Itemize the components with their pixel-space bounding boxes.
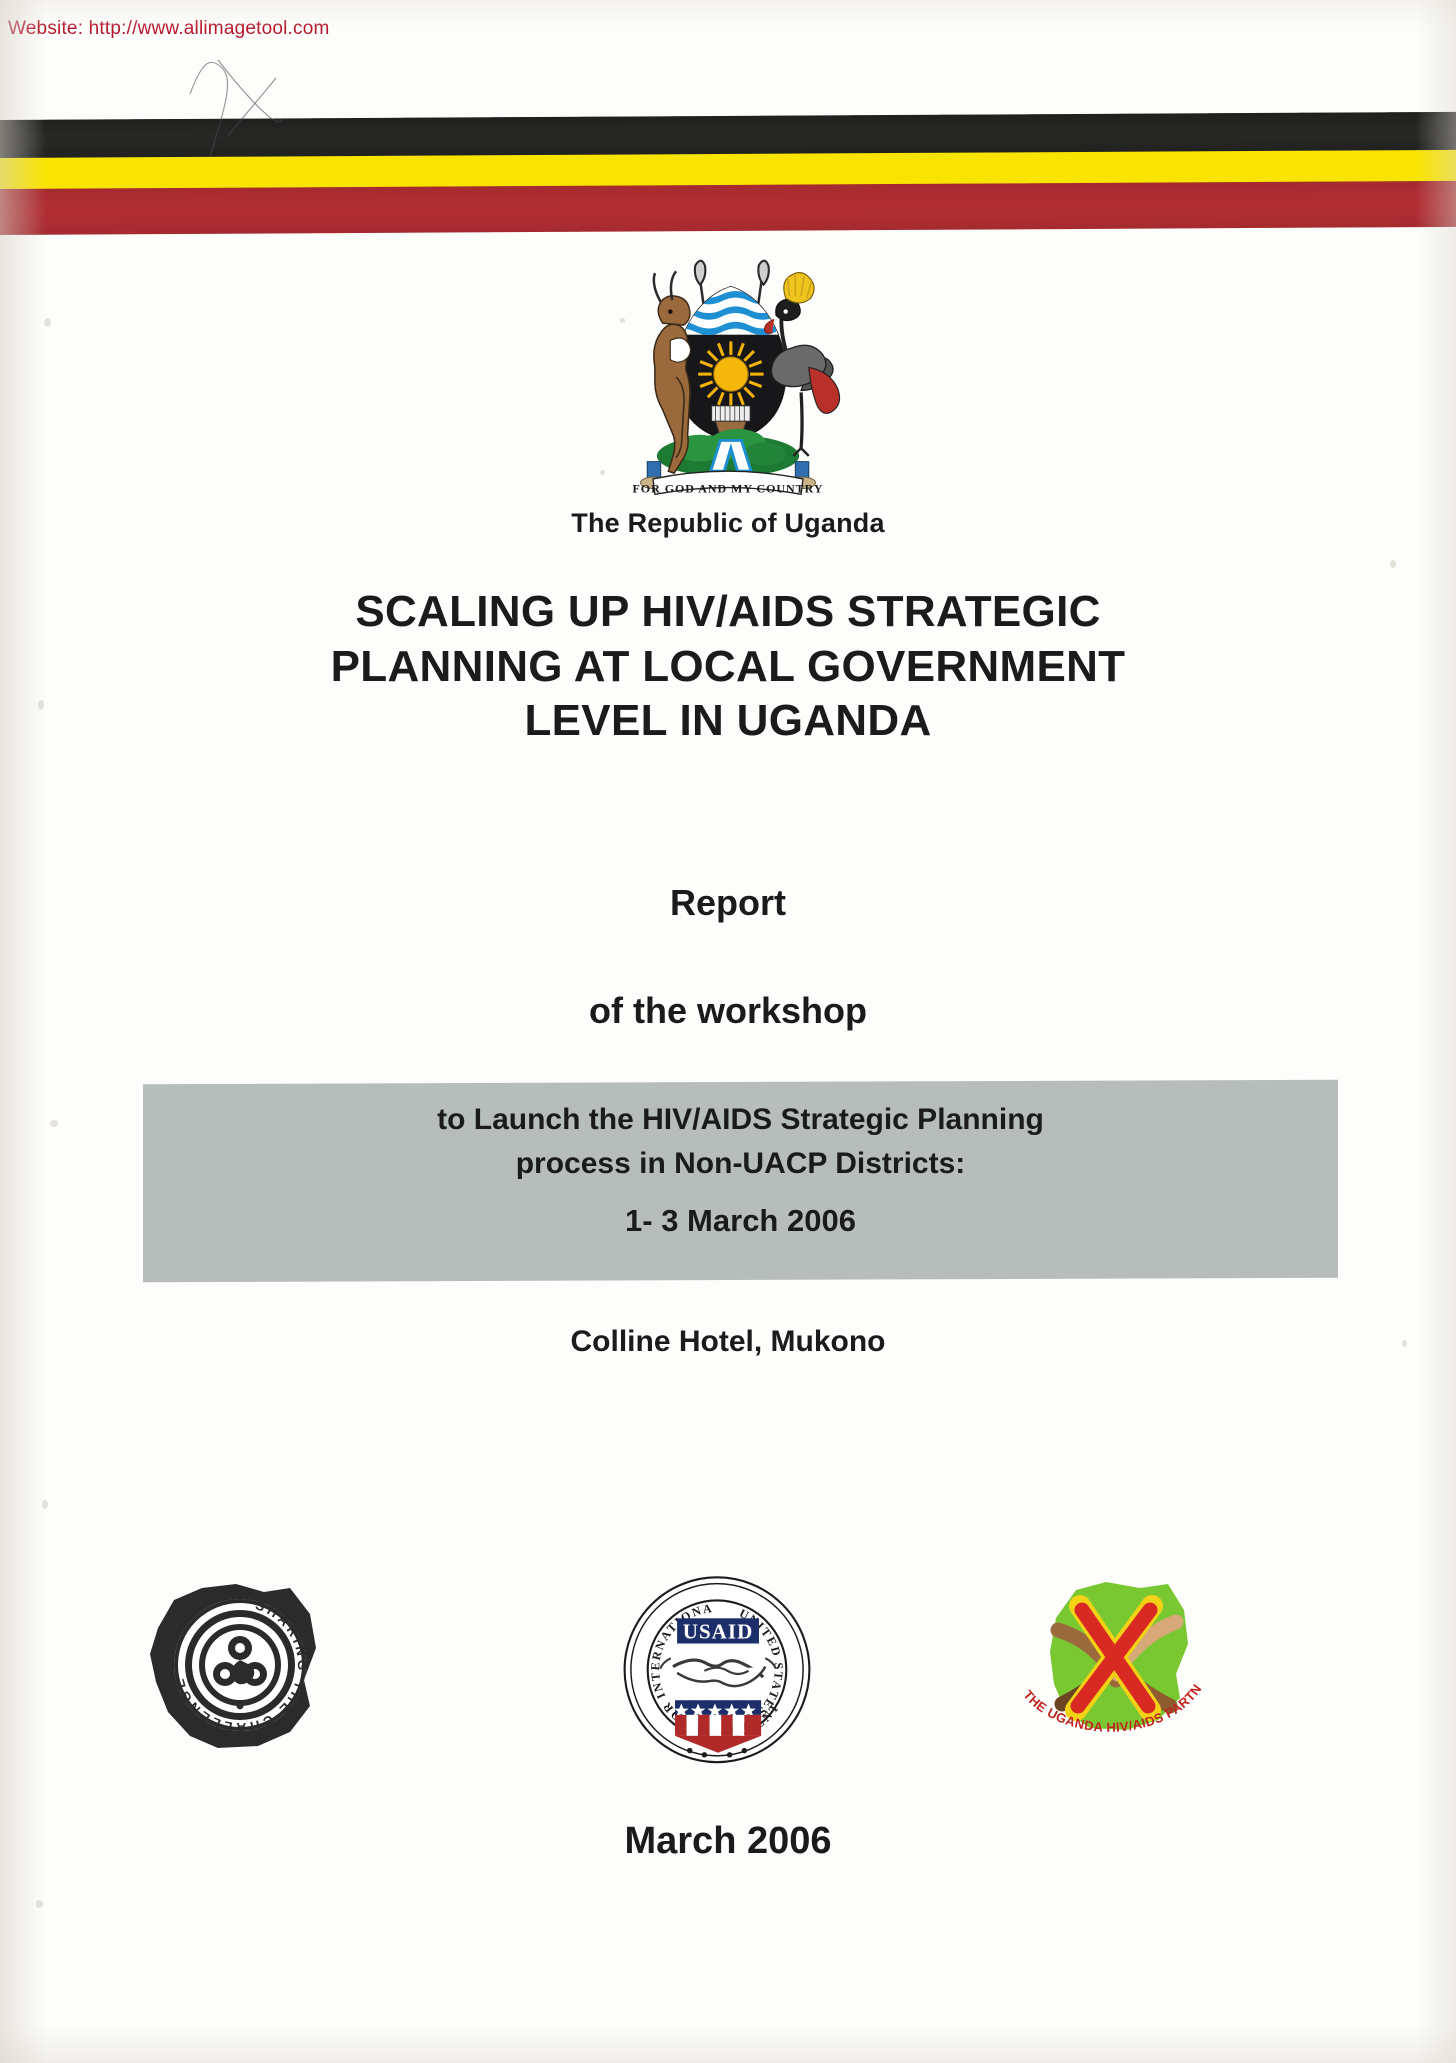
title-line-2: PLANNING AT LOCAL GOVERNMENT — [150, 640, 1306, 695]
scan-speck — [36, 1900, 43, 1908]
logo-row: SHARING THE CHALLENGE UNITED STATES AGEN… — [0, 1570, 1456, 1770]
venue-label: Colline Hotel, Mukono — [0, 1325, 1456, 1359]
highlight-line-1: to Launch the HIV/AIDS Strategic Plannin… — [143, 1098, 1338, 1142]
watermark-text: Website: http://www.allimagetool.com — [8, 18, 330, 40]
scan-speck — [42, 1500, 48, 1509]
page-title: SCALING UP HIV/AIDS STRATEGIC PLANNING A… — [150, 585, 1306, 749]
scan-speck — [50, 1120, 58, 1127]
usaid-wordmark: USAID — [683, 1619, 754, 1643]
republic-label: The Republic of Uganda — [0, 508, 1456, 539]
document-cover-page: Website: http://www.allimagetool.com — [0, 0, 1456, 2063]
uganda-coat-of-arms-icon: FOR GOD AND MY COUNTRY — [603, 252, 853, 502]
scan-speck — [38, 700, 44, 710]
highlight-text: to Launch the HIV/AIDS Strategic Plannin… — [143, 1098, 1338, 1244]
pencil-scribble-mark — [180, 52, 300, 162]
usaid-logo-icon: UNITED STATES AGENCY FOR INTERNATIONAL D… — [612, 1570, 822, 1770]
scan-speck — [1390, 560, 1396, 568]
workshop-label: of the workshop — [0, 990, 1456, 1032]
publication-date: March 2006 — [0, 1820, 1456, 1863]
flag-band-red — [0, 181, 1456, 235]
uganda-hiv-aids-partnership-logo-icon: THE UGANDA HIV/AIDS PARTNERSHIP — [1010, 1570, 1210, 1750]
title-line-1: SCALING UP HIV/AIDS STRATEGIC — [150, 585, 1306, 640]
report-label: Report — [0, 882, 1456, 924]
workshop-dates: 1- 3 March 2006 — [143, 1199, 1338, 1244]
title-line-3: LEVEL IN UGANDA — [150, 694, 1306, 749]
coat-of-arms-container: FOR GOD AND MY COUNTRY — [0, 252, 1456, 502]
coat-of-arms-motto: FOR GOD AND MY COUNTRY — [633, 481, 824, 495]
highlight-line-2: process in Non-UACP Districts: — [143, 1142, 1338, 1186]
uganda-aids-commission-logo-icon: SHARING THE CHALLENGE — [140, 1570, 340, 1755]
